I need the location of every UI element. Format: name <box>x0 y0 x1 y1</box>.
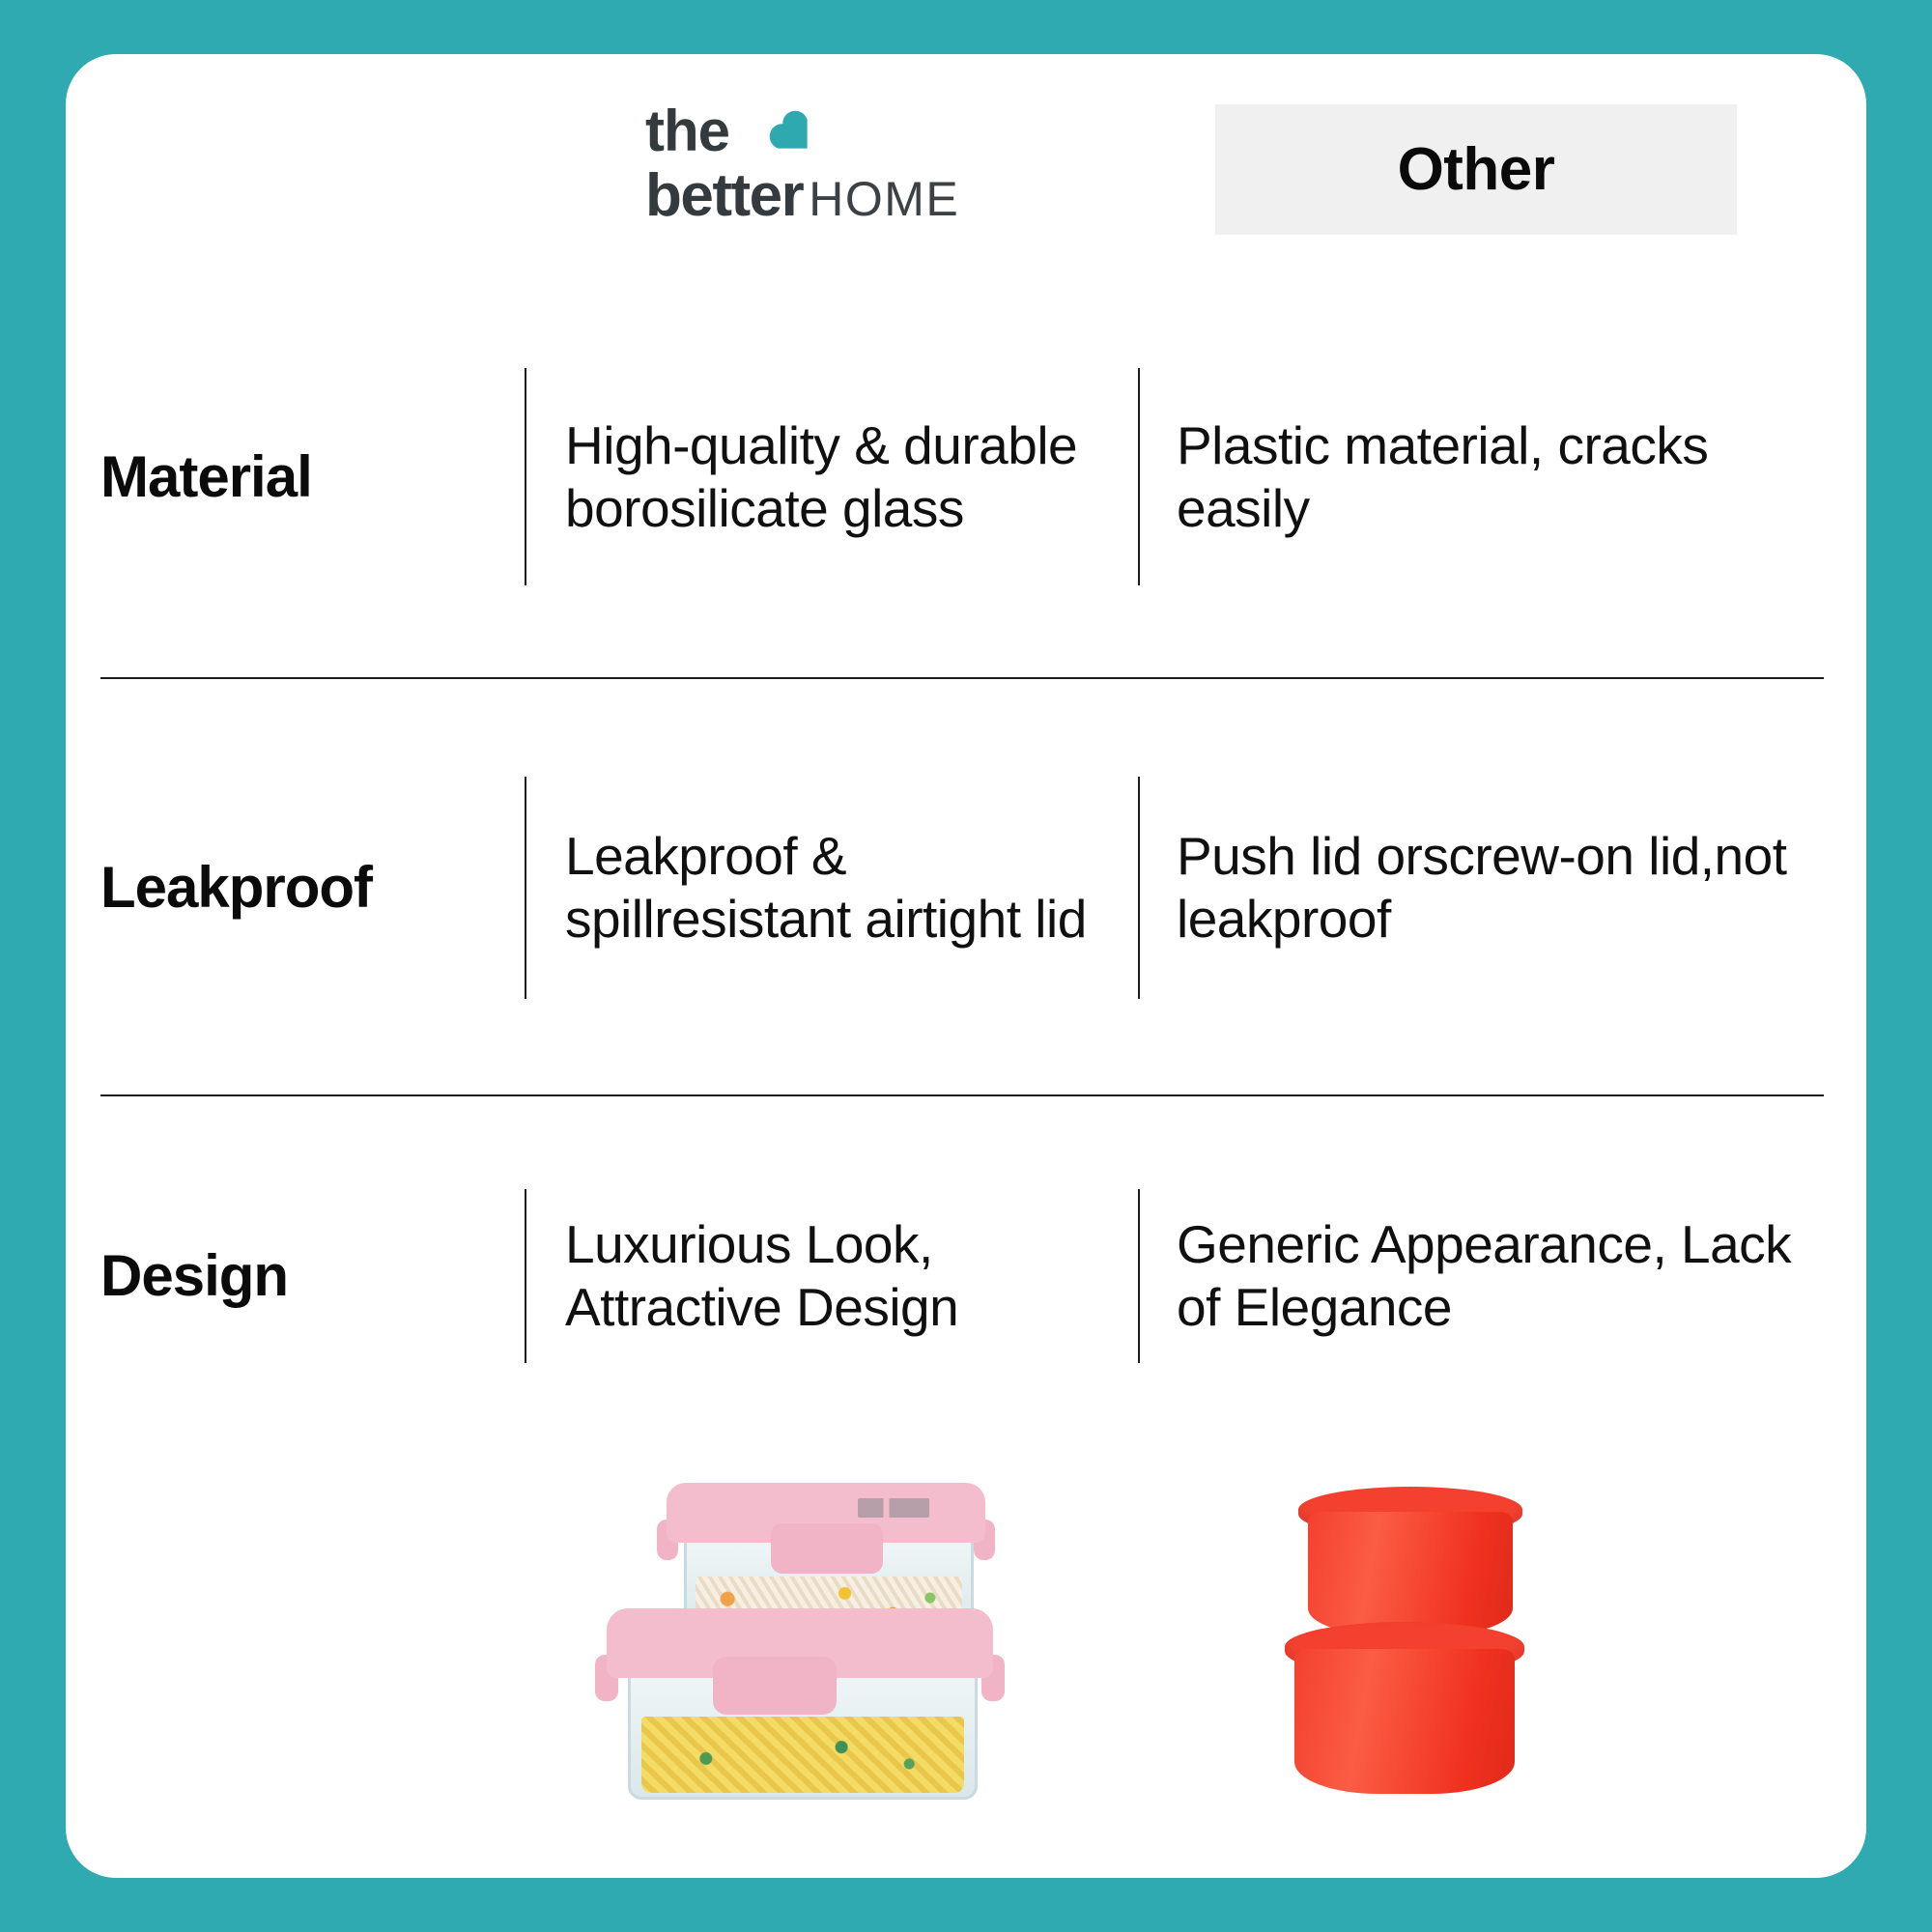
other-column-header-label: Other <box>1398 135 1555 204</box>
row-our-value: Luxurious Look, Attractive Design <box>525 1189 1138 1363</box>
logo-better-text: better <box>645 162 803 230</box>
row-feature-label: Leakproof <box>66 856 525 920</box>
comparison-row: Material High-quality & durable borosili… <box>66 276 1866 677</box>
logo-home-text: HOME <box>809 165 959 233</box>
lid-front-latch <box>771 1523 883 1574</box>
plastic-body <box>1308 1512 1513 1635</box>
row-other-value: Generic Appearance, Lack of Elegance <box>1138 1189 1866 1363</box>
lid-brand-print <box>858 1498 929 1518</box>
comparison-row: Design Luxurious Look, Attractive Design… <box>66 1097 1866 1455</box>
glass-container-bottom <box>607 1593 993 1801</box>
red-plastic-round-container-set-image <box>1285 1487 1536 1805</box>
row-other-value: Push lid orscrew-on lid,not leakproof <box>1138 777 1866 999</box>
logo-the-text: the <box>645 100 729 162</box>
card-header: the better HOME Other <box>66 54 1866 276</box>
food-yellow-rice-corn <box>641 1717 965 1793</box>
row-other-value: Plastic material, cracks easily <box>1138 368 1866 585</box>
plastic-body <box>1294 1649 1515 1794</box>
pink-lid-glass-container-set-image <box>607 1469 1022 1817</box>
other-column-header: Other <box>1215 104 1737 235</box>
row-feature-label: Material <box>66 445 525 509</box>
lid-front-latch <box>713 1657 837 1715</box>
heart-icon <box>761 102 821 162</box>
logo-bottom-row: better HOME <box>645 162 959 233</box>
brand-logo: the better HOME <box>645 100 1061 245</box>
page-root: the better HOME Other <box>0 0 1932 1932</box>
row-our-value: High-quality & durable borosilicate glas… <box>525 368 1138 585</box>
plastic-container-bottom <box>1285 1622 1524 1805</box>
comparison-card: the better HOME Other <box>66 54 1866 1878</box>
row-our-value: Leakproof & spillresistant airtight lid <box>525 777 1138 999</box>
row-feature-label: Design <box>66 1244 525 1308</box>
comparison-row: Leakproof Leakproof & spillresistant air… <box>66 677 1866 1097</box>
product-image-area <box>66 1460 1866 1878</box>
